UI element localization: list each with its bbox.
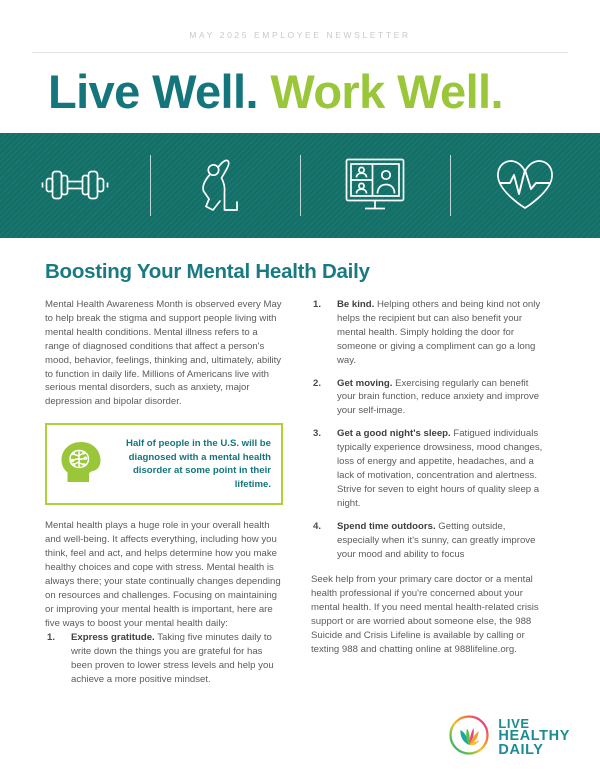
right-tips-list: 1. Be kind. Helping others and being kin… — [311, 298, 549, 562]
dumbbell-icon — [38, 162, 112, 208]
brand-logo: LIVE HEALTHY DAILY — [447, 713, 570, 762]
wellness-icon-band — [0, 133, 600, 238]
live-healthy-daily-logo-mark — [447, 713, 491, 762]
list-item: 3. Get a good night's sleep. Fatigued in… — [311, 427, 549, 511]
tip-number: 1. — [313, 298, 321, 312]
article-body: Boosting Your Mental Health Daily Mental… — [0, 238, 600, 687]
left-paragraph-2: Mental health plays a huge role in your … — [45, 519, 283, 631]
tip-number: 4. — [313, 520, 321, 534]
tip-lead-in: Get a good night's sleep. — [337, 428, 451, 439]
left-column: Mental Health Awareness Month is observe… — [45, 298, 283, 687]
list-item: 1. Express gratitude. Taking five minute… — [45, 631, 283, 687]
closing-paragraph: Seek help from your primary care doctor … — [311, 573, 549, 657]
icon-cell-stretching — [150, 133, 300, 238]
masthead-title: Live Well. Work Well. — [0, 67, 600, 118]
head-brain-icon — [55, 436, 107, 493]
header-divider — [32, 52, 568, 53]
logo-line-daily: DAILY — [498, 744, 570, 758]
tip-number: 1. — [47, 631, 55, 645]
tip-lead-in: Spend time outdoors. — [337, 521, 436, 532]
left-tips-list: 1. Express gratitude. Taking five minute… — [45, 631, 283, 687]
tip-body: Fatigued individuals typically experienc… — [337, 428, 542, 509]
masthead-title-part2: Work Well. — [270, 65, 503, 118]
tip-number: 2. — [313, 377, 321, 391]
tip-lead-in: Get moving. — [337, 378, 392, 389]
list-item: 1. Be kind. Helping others and being kin… — [311, 298, 549, 368]
icon-cell-heart-pulse — [450, 133, 600, 238]
statistic-callout: Half of people in the U.S. will be diagn… — [45, 423, 283, 505]
newsletter-page: MAY 2025 EMPLOYEE NEWSLETTER Live Well. … — [0, 0, 600, 776]
callout-text: Half of people in the U.S. will be diagn… — [113, 437, 271, 491]
issue-kicker: MAY 2025 EMPLOYEE NEWSLETTER — [0, 0, 600, 40]
list-item: 4. Spend time outdoors. Getting outside,… — [311, 520, 549, 562]
tip-lead-in: Be kind. — [337, 299, 374, 310]
logo-wordmark: LIVE HEALTHY DAILY — [498, 718, 570, 757]
article-columns: Mental Health Awareness Month is observe… — [45, 298, 555, 687]
masthead-title-part1: Live Well. — [48, 65, 258, 118]
list-item: 2. Get moving. Exercising regularly can … — [311, 377, 549, 419]
stretching-person-icon — [196, 154, 254, 216]
icon-cell-video-meeting — [300, 133, 450, 238]
video-meeting-icon — [341, 154, 409, 216]
tip-number: 3. — [313, 427, 321, 441]
tip-lead-in: Express gratitude. — [71, 632, 155, 643]
left-paragraph-1: Mental Health Awareness Month is observe… — [45, 298, 283, 410]
icon-cell-dumbbell — [0, 133, 150, 238]
heart-pulse-icon — [493, 156, 557, 214]
article-title: Boosting Your Mental Health Daily — [45, 260, 555, 284]
right-column: 1. Be kind. Helping others and being kin… — [311, 298, 549, 657]
